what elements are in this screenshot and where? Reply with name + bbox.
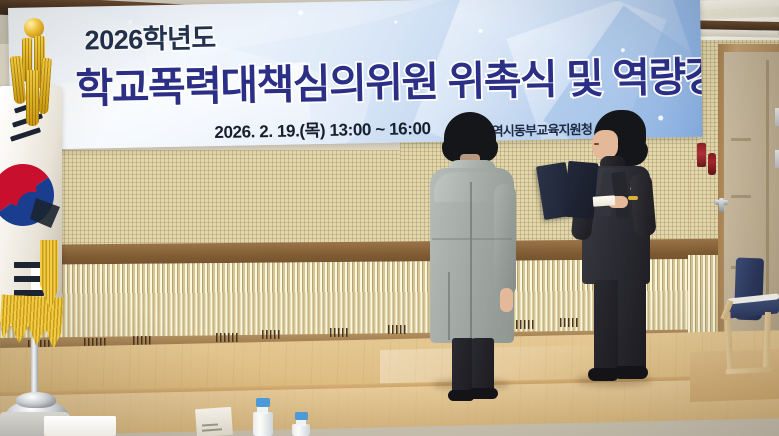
flagpole-finial <box>24 18 44 38</box>
door-hinge <box>775 150 779 168</box>
coat-belt-line <box>432 238 512 240</box>
door-groove <box>731 195 751 198</box>
banner-datetime: 2026. 2. 19.(목) 13:00 ~ 16:00 <box>214 114 431 143</box>
coat-seam <box>470 182 472 340</box>
wall-vent <box>262 330 282 339</box>
wall-vent <box>330 328 350 337</box>
foreground-paper <box>44 416 116 436</box>
door-lock-indicator[interactable] <box>708 153 716 175</box>
trigram-bar <box>14 262 44 268</box>
person-presenter <box>556 110 671 385</box>
trigram-bar <box>14 276 44 282</box>
trigram-bar <box>10 127 41 141</box>
trousers <box>594 280 620 376</box>
emergency-alarm-device[interactable] <box>697 143 706 167</box>
person-recipient <box>418 112 528 387</box>
bottle-cap <box>256 398 270 407</box>
taeguk-symbol <box>0 152 62 238</box>
banner-year-label: 2026학년도 <box>84 16 216 58</box>
wall-vent <box>216 333 238 342</box>
shoe <box>470 388 498 399</box>
door-hinge <box>775 108 779 126</box>
eye <box>594 143 599 145</box>
flag-tassel <box>26 70 39 126</box>
bottle-cap <box>295 412 308 420</box>
certificate-folder-right-leaf <box>564 161 599 219</box>
hand <box>500 288 513 312</box>
shoe <box>588 368 618 381</box>
photo-scene: 2026학년도 학교폭력대책심의위원 위촉식 및 역량강화 연수 2026. 2… <box>0 0 779 436</box>
coat-vent <box>448 272 450 340</box>
door-groove <box>731 138 751 141</box>
trigram-bar <box>14 290 44 296</box>
door-handle[interactable] <box>719 198 724 212</box>
trousers <box>618 278 646 374</box>
certificate-paper <box>593 195 616 207</box>
wall-vent <box>388 325 408 334</box>
name-card <box>195 407 233 436</box>
wristwatch <box>628 196 638 200</box>
suit-sleeve-right <box>629 173 656 237</box>
flag-stand-collar <box>16 392 56 408</box>
water-bottle <box>253 412 273 436</box>
shoe <box>616 366 648 379</box>
